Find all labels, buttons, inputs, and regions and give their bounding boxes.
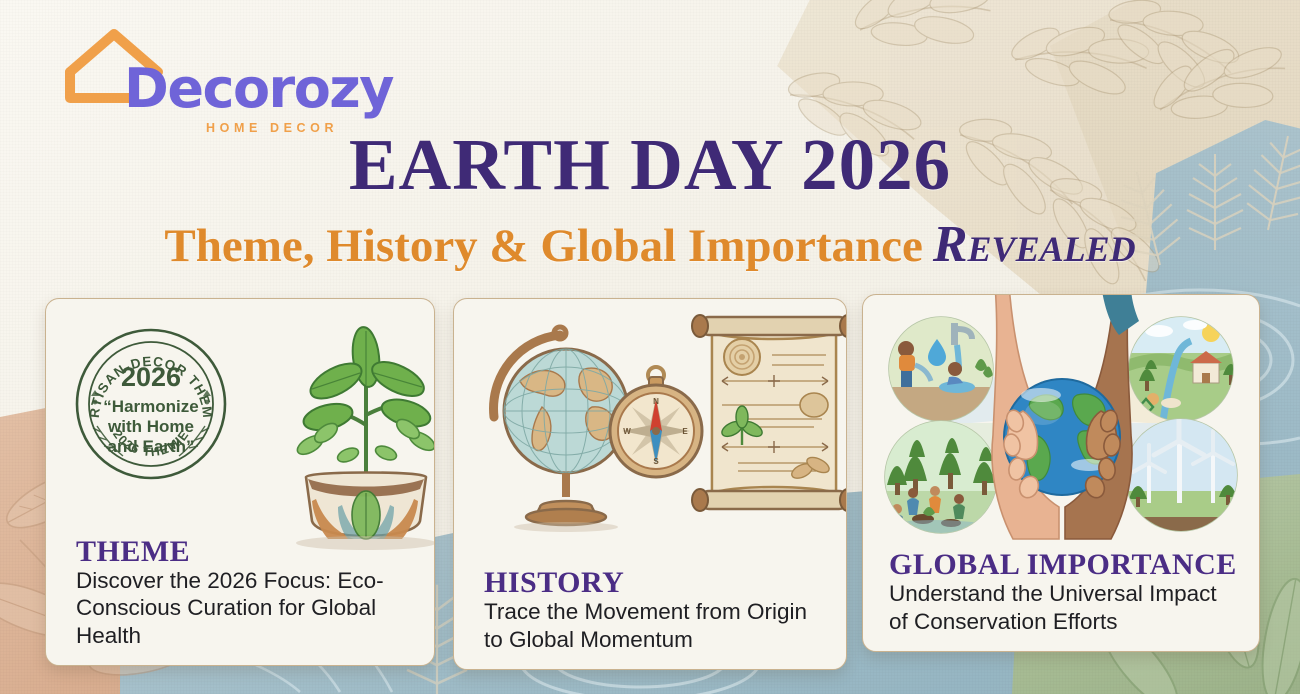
potted-plant-illustration: [294, 326, 435, 550]
seal-quote-line2: with Home: [107, 417, 194, 436]
card-theme[interactable]: ARTISAN-DECOR THEME 2026 THEMIE 2026 “Ha…: [45, 298, 435, 666]
seal-year: 2026: [121, 362, 181, 392]
card-history-title: HISTORY: [484, 568, 824, 598]
card-history[interactable]: NS EW: [453, 298, 847, 670]
history-illustration: NS EW: [454, 299, 846, 568]
seal-quote-line1: “Harmonize: [103, 397, 198, 416]
card-global-importance-body: Understand the Universal Impact of Conse…: [889, 580, 1237, 635]
scroll-illustration: [692, 315, 847, 511]
globe-illustration: [494, 327, 628, 532]
theme-illustration: ARTISAN-DECOR THEME 2026 THEMIE 2026 “Ha…: [46, 299, 434, 537]
svg-text:W: W: [623, 427, 631, 436]
hands-holding-earth: [992, 294, 1139, 539]
page-subtitle: Theme, History & Global ImportanceReveal…: [0, 215, 1300, 275]
card-history-body: Trace the Movement from Origin to Global…: [484, 598, 824, 653]
svg-text:S: S: [653, 457, 659, 466]
card-global-importance[interactable]: GLOBAL IMPORTANCE Understand the Univers…: [862, 294, 1260, 652]
artisan-decor-seal: ARTISAN-DECOR THEME 2026 THEMIE 2026 “Ha…: [77, 330, 225, 478]
vignette-village: [1129, 317, 1239, 421]
vignette-water: [889, 317, 993, 421]
poster-canvas: Decorozy HOME DECOR EARTH DAY 2026 Theme…: [0, 0, 1300, 694]
vignette-forest: [885, 421, 997, 535]
brand-name: Decorozy: [124, 62, 393, 116]
page-title: EARTH DAY 2026: [0, 128, 1300, 201]
card-theme-body: Discover the 2026 Focus: Eco-Conscious C…: [76, 567, 412, 649]
svg-text:E: E: [682, 427, 688, 436]
compass-illustration: NS EW: [610, 367, 702, 477]
svg-text:N: N: [653, 397, 659, 406]
card-global-importance-title: GLOBAL IMPORTANCE: [889, 550, 1237, 580]
global-importance-illustration: [863, 295, 1259, 550]
brand-logo[interactable]: Decorozy HOME DECOR: [58, 26, 358, 114]
subtitle-main: Theme, History & Global Importance: [164, 220, 922, 272]
subtitle-accent: Revealed: [933, 216, 1136, 273]
